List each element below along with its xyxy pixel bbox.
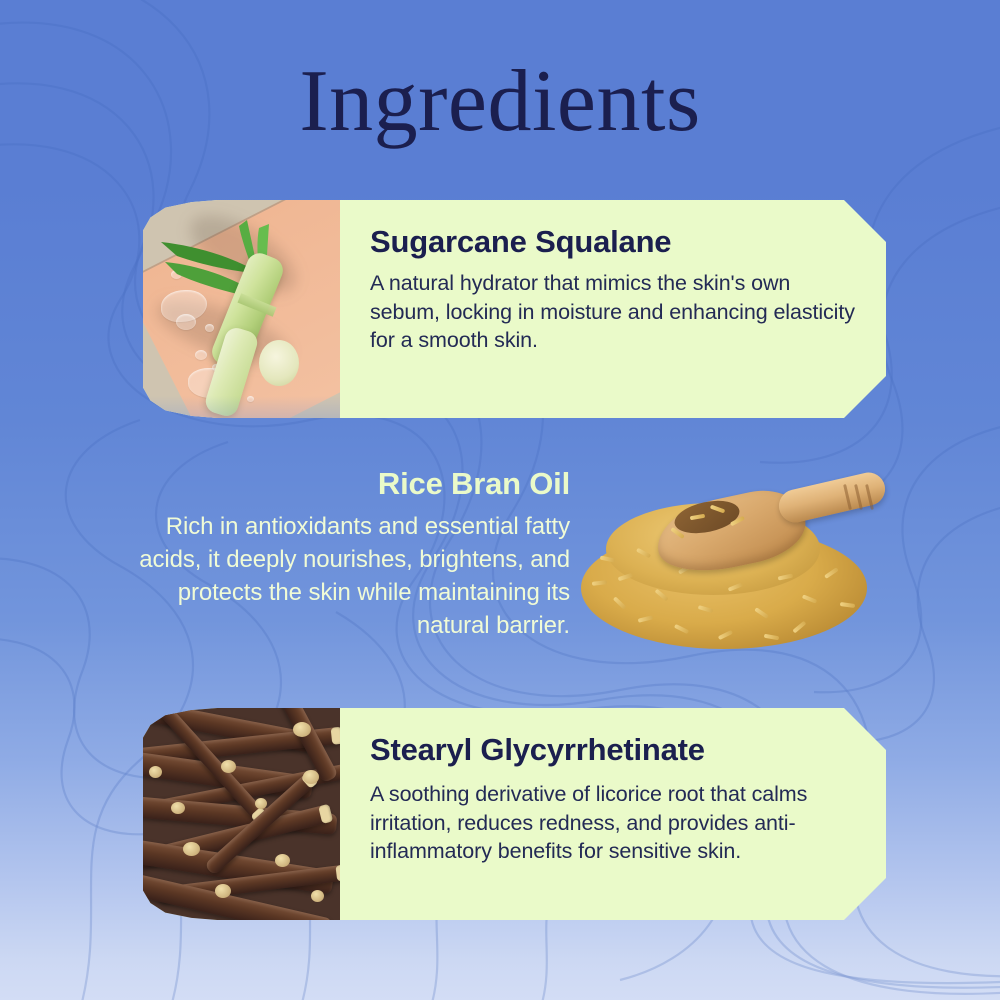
- ingredient-description: A natural hydrator that mimics the skin'…: [370, 269, 856, 355]
- ingredient-block-rice-bran-oil[interactable]: Rice Bran Oil Rich in antioxidants and e…: [120, 466, 570, 643]
- ingredient-description: A soothing derivative of licorice root t…: [370, 780, 856, 866]
- sugarcane-stalk-photo: [143, 200, 340, 418]
- ingredient-name: Stearyl Glycyrrhetinate: [370, 732, 856, 768]
- licorice-root-sticks-photo: [143, 708, 340, 920]
- card-text-block: Sugarcane Squalane A natural hydrator th…: [340, 200, 886, 418]
- ingredient-card-sugarcane-squalane[interactable]: Sugarcane Squalane A natural hydrator th…: [143, 200, 886, 418]
- ingredient-name: Sugarcane Squalane: [370, 224, 856, 260]
- ingredient-card-stearyl-glycyrrhetinate[interactable]: Stearyl Glycyrrhetinate A soothing deriv…: [143, 708, 886, 920]
- rice-grains-with-wooden-scoop-photo: [578, 475, 888, 655]
- page-title: Ingredients: [0, 58, 1000, 146]
- ingredient-name: Rice Bran Oil: [120, 466, 570, 502]
- ingredient-description: Rich in antioxidants and essential fatty…: [120, 511, 570, 643]
- card-text-block: Stearyl Glycyrrhetinate A soothing deriv…: [340, 708, 886, 920]
